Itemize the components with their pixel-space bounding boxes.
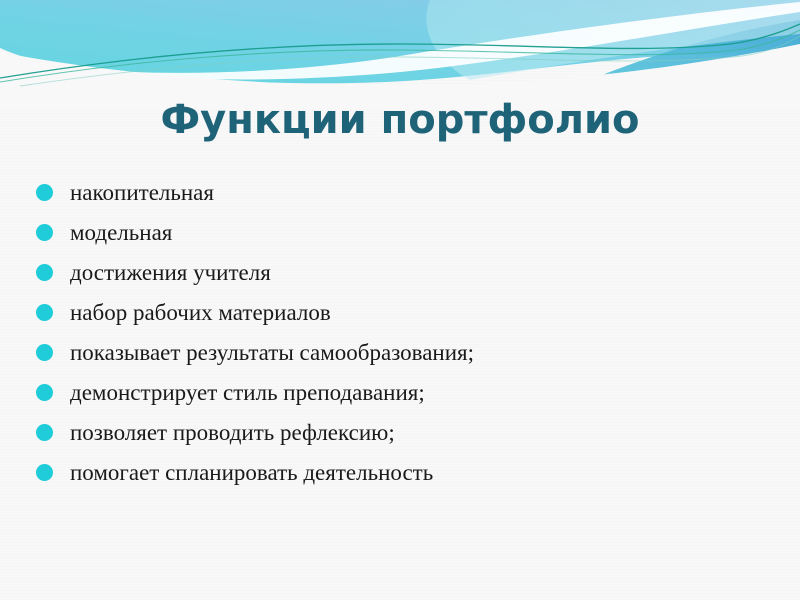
list-item: демонстрирует стиль преподавания;	[36, 372, 776, 412]
decorative-wave-banner	[0, 0, 800, 110]
list-item-label: позволяет проводить рефлексию;	[70, 421, 776, 444]
list-item: набор рабочих материалов	[36, 292, 776, 332]
bullet-list: накопительная модельная достижения учите…	[36, 172, 776, 492]
wave-line-teal	[0, 24, 800, 78]
bullet-dot-icon	[36, 344, 53, 361]
list-item-label: набор рабочих материалов	[70, 301, 776, 324]
bullet-dot-icon	[36, 184, 53, 201]
bullet-dot-icon	[36, 384, 53, 401]
list-item-label: накопительная	[70, 181, 776, 204]
presentation-slide: Функции портфолио накопительная модельна…	[0, 0, 800, 600]
list-item: помогает спланировать деятельность	[36, 452, 776, 492]
list-item: показывает результаты самообразования;	[36, 332, 776, 372]
wave-line-faint	[20, 36, 800, 86]
list-item: позволяет проводить рефлексию;	[36, 412, 776, 452]
list-item-label: показывает результаты самообразования;	[70, 341, 776, 364]
bullet-dot-icon	[36, 304, 53, 321]
list-item: достижения учителя	[36, 252, 776, 292]
list-item-label: достижения учителя	[70, 261, 776, 284]
wave-band-pale	[426, 0, 800, 80]
bullet-dot-icon	[36, 464, 53, 481]
list-item: накопительная	[36, 172, 776, 212]
bullet-dot-icon	[36, 224, 53, 241]
wave-highlight-upper	[70, 2, 800, 80]
list-item: модельная	[36, 212, 776, 252]
list-item-label: демонстрирует стиль преподавания;	[70, 381, 776, 404]
wave-band-secondary	[566, 20, 800, 90]
wave-band-primary	[0, 0, 800, 83]
list-item-label: помогает спланировать деятельность	[70, 461, 776, 484]
list-item-label: модельная	[70, 221, 776, 244]
bullet-dot-icon	[36, 424, 53, 441]
bullet-dot-icon	[36, 264, 53, 281]
slide-title: Функции портфолио	[0, 99, 800, 141]
wave-line-green	[0, 30, 800, 82]
